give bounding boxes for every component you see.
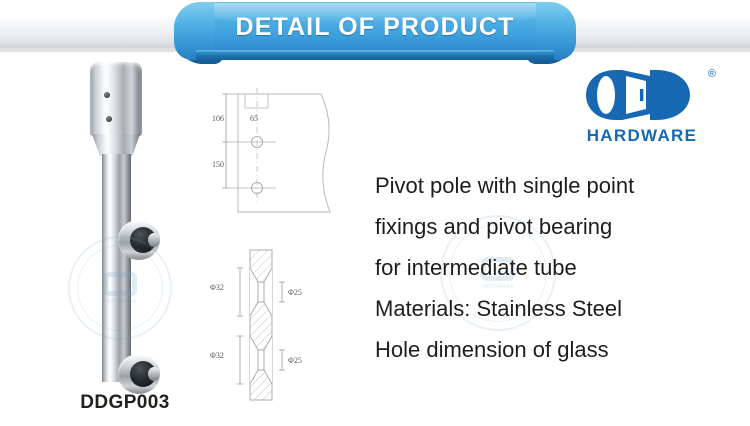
description-line: for intermediate tube — [375, 247, 745, 288]
glass-panel-drawing — [206, 78, 356, 238]
dim-d32-lower: Φ32 — [210, 351, 224, 360]
header-banner: DETAIL OF PRODUCT — [0, 0, 750, 70]
logo-mark-icon — [582, 66, 702, 124]
product-image — [62, 62, 182, 382]
description-line: Materials: Stainless Steel — [375, 288, 745, 329]
disc-core — [130, 361, 156, 387]
dim-106: 106 — [212, 114, 224, 123]
pole-cap — [90, 62, 142, 136]
logo-wordmark: HARDWARE — [582, 126, 702, 146]
description-line: Hole dimension of glass — [375, 329, 745, 370]
dim-d25-upper: Φ25 — [288, 288, 302, 297]
brand-logo: ® HARDWARE — [582, 66, 718, 152]
cap-screw-upper-icon — [104, 92, 110, 98]
disc-core — [130, 227, 156, 253]
dim-65: 65 — [250, 114, 258, 123]
banner-plate: DETAIL OF PRODUCT — [196, 2, 554, 60]
cap-screw-lower-icon — [106, 116, 112, 122]
description-line: Pivot pole with single point — [375, 165, 745, 206]
dim-150: 150 — [212, 160, 224, 169]
disc-fitting-upper — [118, 220, 160, 260]
dim-d25-lower: Φ25 — [288, 356, 302, 365]
disc-fitting-lower — [118, 354, 160, 394]
banner-title: DETAIL OF PRODUCT — [196, 2, 554, 52]
technical-drawings: 106 65 150 Φ32 Φ25 Φ32 Φ2 — [206, 78, 356, 408]
registered-trademark-icon: ® — [708, 68, 716, 80]
product-code-label: DDGP003 — [40, 392, 210, 414]
section-view-drawing — [206, 244, 356, 404]
description-line: fixings and pivot bearing — [375, 206, 745, 247]
pole-tube — [102, 154, 131, 382]
product-description: Pivot pole with single point fixings and… — [375, 165, 745, 370]
dim-d32-upper: Φ32 — [210, 283, 224, 292]
